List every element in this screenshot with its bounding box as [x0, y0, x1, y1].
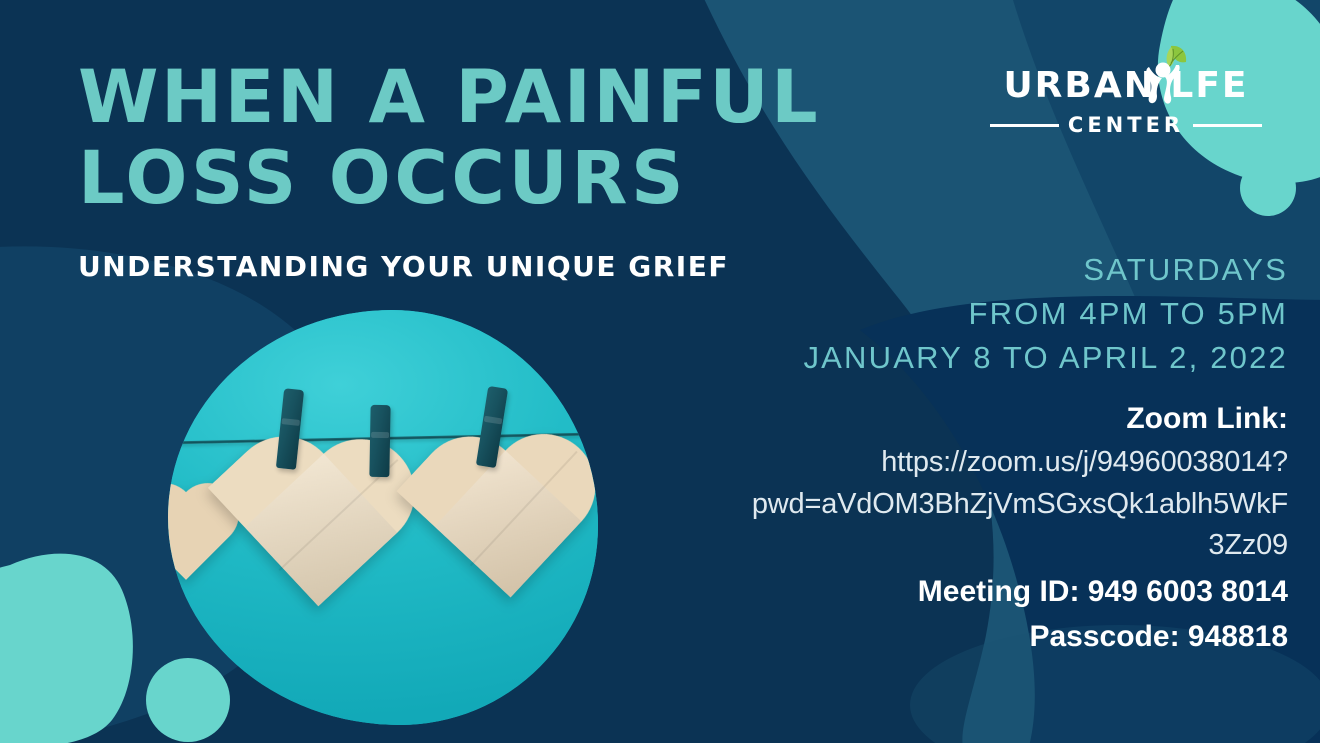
logo-subtext: CENTER	[1068, 113, 1184, 137]
logo-rule-right	[1193, 124, 1262, 127]
schedule-line-time: FROM 4PM TO 5PM	[668, 292, 1288, 336]
logo-word-urban: URBAN	[1003, 65, 1155, 106]
schedule-block: SATURDAYS FROM 4PM TO 5PM JANUARY 8 TO A…	[668, 248, 1288, 380]
hearts-photo-inner	[168, 310, 598, 725]
clothespin-middle	[369, 405, 390, 477]
person-with-leaves-icon	[1138, 43, 1190, 105]
zoom-link-label: Zoom Link:	[668, 400, 1288, 438]
zoom-info-block: Zoom Link: https://zoom.us/j/94960038014…	[668, 400, 1288, 656]
title-line-2: LOSS OCCURS	[78, 143, 898, 215]
logo-word-fe: FE	[1195, 65, 1248, 106]
logo-rule-left	[990, 124, 1059, 127]
zoom-url-line-3: 3Zz09	[1208, 529, 1288, 561]
hearts-photo	[168, 310, 598, 725]
passcode: Passcode: 948818	[668, 617, 1288, 656]
zoom-url-line-1: https://zoom.us/j/94960038014?	[881, 446, 1288, 478]
logo-wordmark: URBAN LFE	[990, 68, 1262, 104]
schedule-line-dates: JANUARY 8 TO APRIL 2, 2022	[668, 336, 1288, 380]
zoom-link-url[interactable]: https://zoom.us/j/94960038014? pwd=aVdOM…	[668, 442, 1288, 566]
urban-life-center-logo[interactable]: URBAN LFE CENTER	[990, 68, 1262, 137]
meeting-id: Meeting ID: 949 6003 8014	[668, 572, 1288, 611]
schedule-line-days: SATURDAYS	[668, 248, 1288, 292]
zoom-url-line-2: pwd=aVdOM3BhZjVmSGxsQk1ablh5WkF	[752, 488, 1288, 520]
blob-bottomleft-teal	[0, 554, 133, 743]
poster-canvas: WHEN A PAINFUL LOSS OCCURS UNDERSTANDING…	[0, 0, 1320, 743]
logo-center-row: CENTER	[990, 113, 1262, 137]
circle-topright-teal	[1240, 160, 1296, 216]
title-line-1: WHEN A PAINFUL	[78, 62, 898, 134]
